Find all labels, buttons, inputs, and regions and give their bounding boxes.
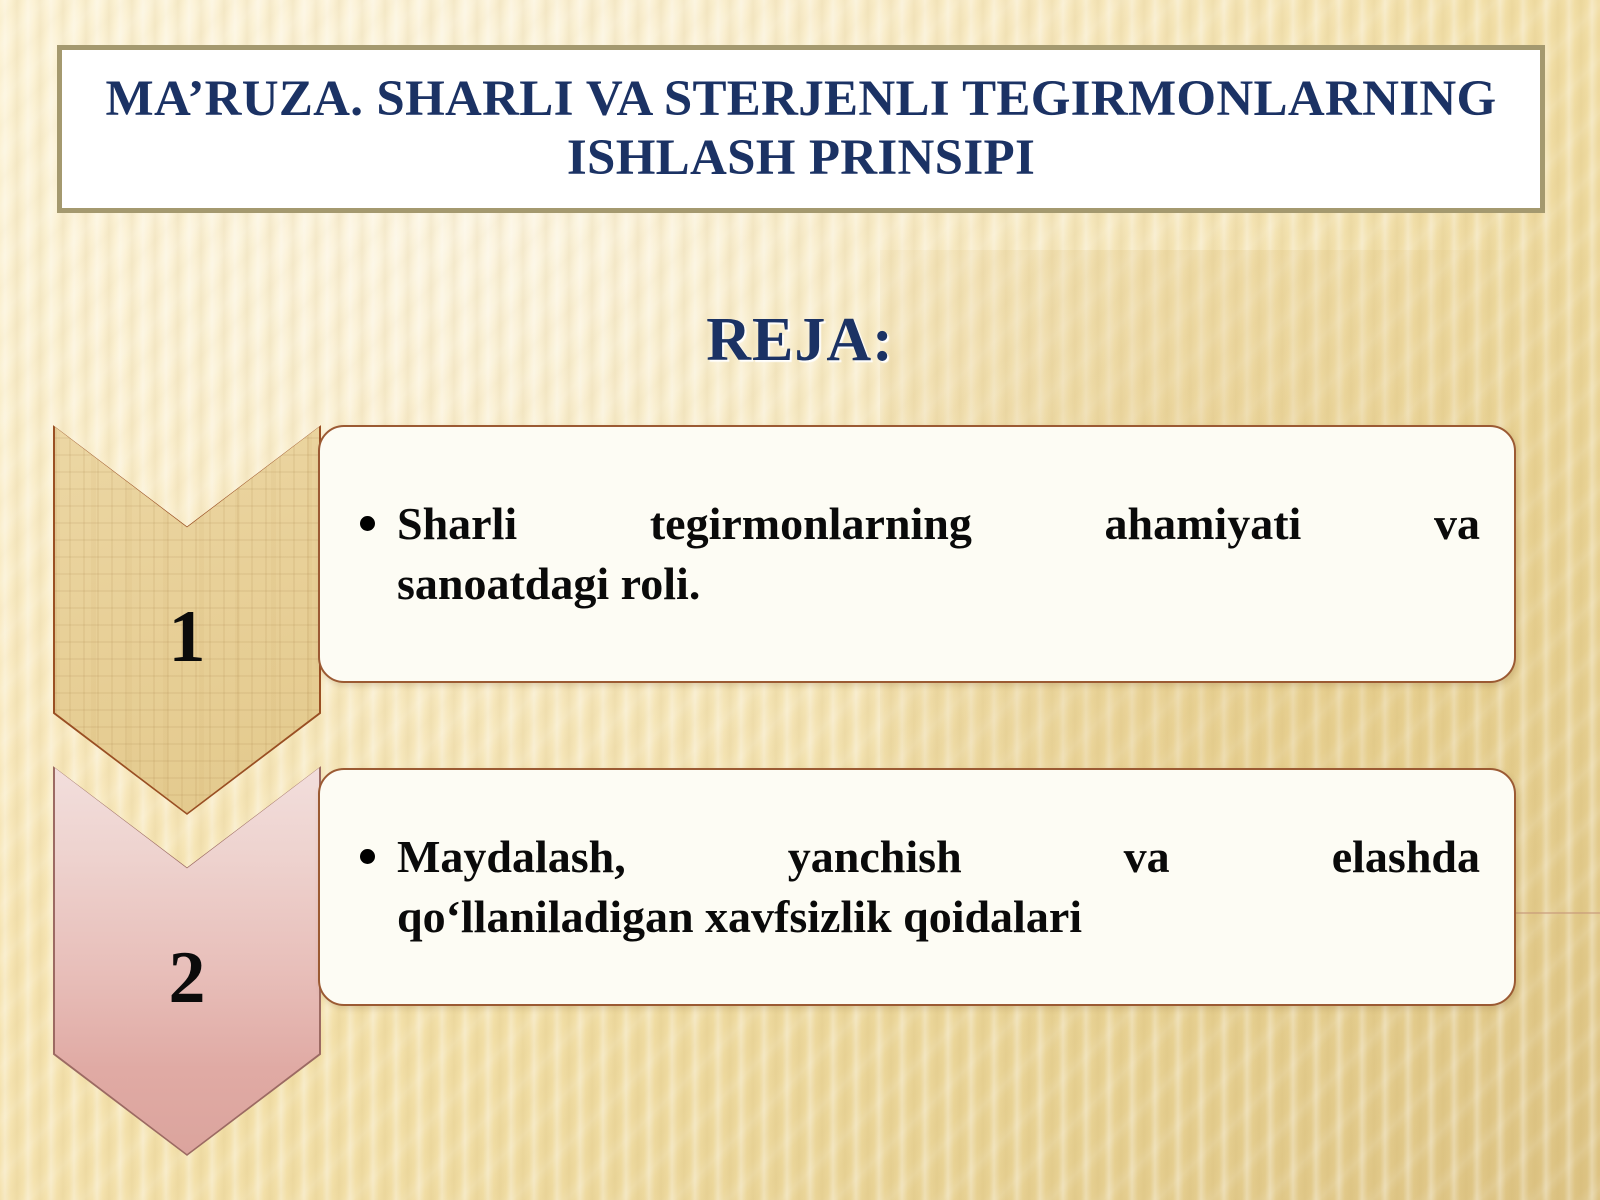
chevron-1-number: 1: [169, 595, 206, 680]
plan-item-1-row: Sharli tegirmonlarning ahamiyati va sano…: [320, 494, 1514, 614]
chevron-marker-2: 2: [53, 766, 321, 1156]
bullet-dot-icon: [360, 516, 375, 531]
bullet-dot-icon: [360, 849, 375, 864]
presentation-slide: MA’RUZA. SHARLI VA STERJENLI TEGIRMONLAR…: [0, 0, 1600, 1200]
plan-item-2-text: Maydalash, yanchish va elashda qo‘llanil…: [397, 827, 1480, 947]
plan-item-box-2: Maydalash, yanchish va elashda qo‘llanil…: [318, 768, 1516, 1006]
slide-title: MA’RUZA. SHARLI VA STERJENLI TEGIRMONLAR…: [62, 70, 1540, 188]
chevron-2-number: 2: [169, 936, 206, 1021]
plan-item-1-line-2: sanoatdagi roli.: [397, 554, 1480, 614]
plan-item-box-1: Sharli tegirmonlarning ahamiyati va sano…: [318, 425, 1516, 683]
plan-item-2-line-2: qo‘llaniladigan xavfsizlik qoidalari: [397, 887, 1480, 947]
slide-title-box: MA’RUZA. SHARLI VA STERJENLI TEGIRMONLAR…: [57, 45, 1545, 213]
plan-item-1-line-1: Sharli tegirmonlarning ahamiyati va: [397, 494, 1480, 554]
plan-item-1-text: Sharli tegirmonlarning ahamiyati va sano…: [397, 494, 1480, 614]
plan-item-2-line-1: Maydalash, yanchish va elashda: [397, 827, 1480, 887]
plan-heading: REJA:: [0, 305, 1600, 376]
chevron-marker-1: 1: [53, 425, 321, 815]
plan-item-2-row: Maydalash, yanchish va elashda qo‘llanil…: [320, 827, 1514, 947]
